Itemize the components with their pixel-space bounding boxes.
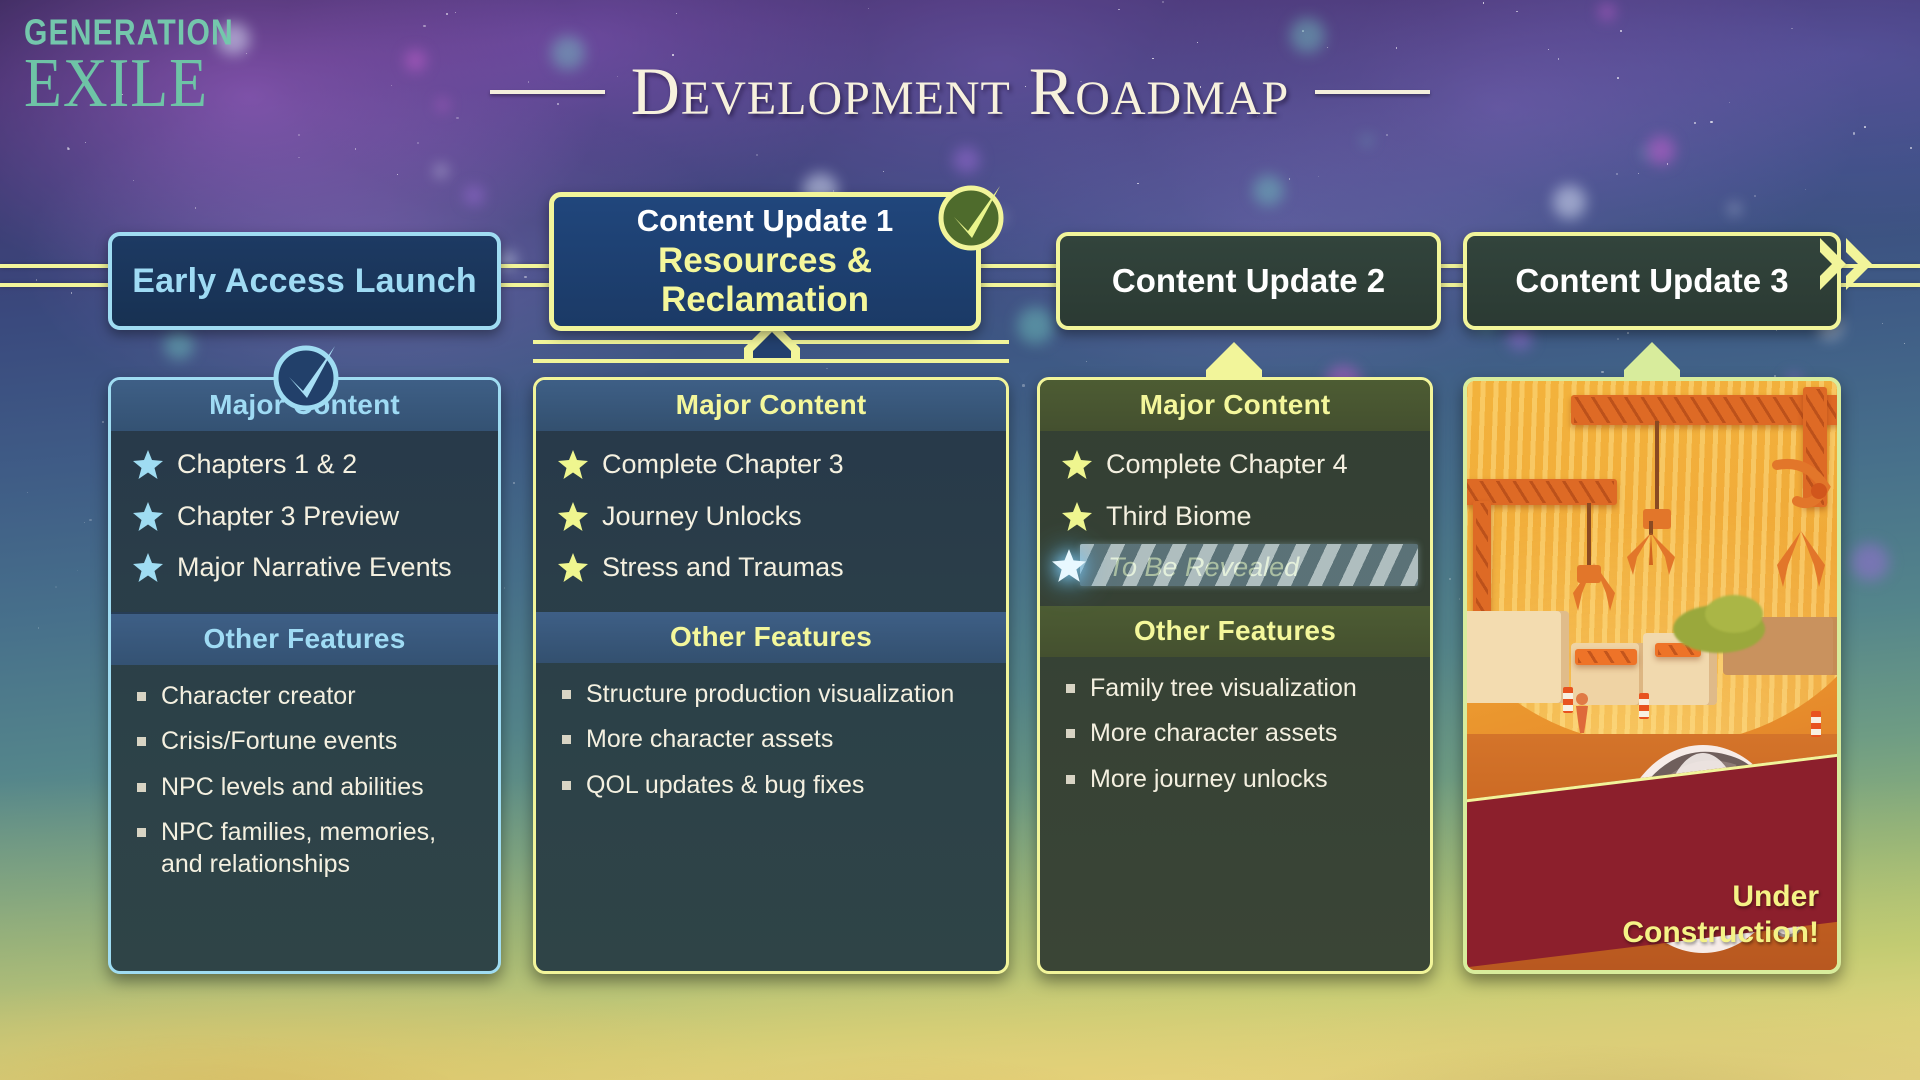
list-item: Crisis/Fortune events <box>111 726 498 758</box>
star-icon <box>558 502 588 540</box>
star-glow-icon <box>1052 549 1086 591</box>
square-bullet-icon <box>562 781 571 790</box>
list-item: Chapter 3 Preview <box>111 499 498 540</box>
milestone-title: Content Update 1 <box>637 204 894 239</box>
title-rule-right <box>1315 90 1430 94</box>
list-item-label: NPC families, memories, and relationship… <box>161 817 480 880</box>
list-item-label: Major Narrative Events <box>177 550 452 585</box>
list-item-label: Crisis/Fortune events <box>161 726 397 758</box>
connector-arrow-card-3 <box>1204 340 1264 387</box>
list-item-label: QOL updates & bug fixes <box>586 770 864 802</box>
major-content-list: Complete Chapter 3 Journey Unlocks Stres… <box>536 431 1006 612</box>
list-item-label: Journey Unlocks <box>602 499 802 534</box>
square-bullet-icon <box>137 783 146 792</box>
section-heading-major-content: Major Content <box>536 380 1006 431</box>
list-item-label: More character assets <box>1090 718 1337 750</box>
star-icon <box>558 553 588 591</box>
list-item-label: Stress and Traumas <box>602 550 844 585</box>
list-item: Major Narrative Events <box>111 550 498 591</box>
double-chevron-right-icon <box>1816 232 1894 296</box>
square-bullet-icon <box>1066 684 1075 693</box>
connector-arrow-card-4 <box>1622 340 1682 387</box>
list-item: More character assets <box>1040 718 1430 750</box>
list-item-label: Character creator <box>161 681 356 713</box>
list-item-label: Structure production visualization <box>586 679 954 711</box>
card-content-update-3[interactable]: Under Construction! <box>1463 377 1841 974</box>
milestone-content-update-3[interactable]: Content Update 3 <box>1463 232 1841 330</box>
list-item-label: Chapters 1 & 2 <box>177 447 357 482</box>
list-item: NPC levels and abilities <box>111 772 498 804</box>
list-item-label: NPC levels and abilities <box>161 772 424 804</box>
list-item-label: More character assets <box>586 724 833 756</box>
other-features-list: Character creator Crisis/Fortune events … <box>111 665 498 905</box>
milestone-content-update-2[interactable]: Content Update 2 <box>1056 232 1441 330</box>
milestone-subtitle: Resources & Reclamation <box>554 241 976 319</box>
list-item: Journey Unlocks <box>536 499 1006 540</box>
check-circle-icon-content-update-1 <box>937 180 1009 252</box>
list-item: More journey unlocks <box>1040 764 1430 796</box>
list-item: QOL updates & bug fixes <box>536 770 1006 802</box>
check-circle-icon-early-access <box>272 340 344 412</box>
milestone-content-update-1[interactable]: Content Update 1 Resources & Reclamation <box>549 192 981 331</box>
list-item: Chapters 1 & 2 <box>111 447 498 488</box>
list-item-label: Third Biome <box>1106 499 1252 534</box>
square-bullet-icon <box>562 735 571 744</box>
other-features-list: Structure production visualization More … <box>536 663 1006 826</box>
card-content-update-1[interactable]: Major Content Complete Chapter 3 Journey… <box>533 377 1009 974</box>
page-title: Development Roadmap <box>631 52 1289 131</box>
list-item-label: Chapter 3 Preview <box>177 499 399 534</box>
milestone-title: Content Update 2 <box>1112 263 1385 300</box>
major-content-list: Complete Chapter 4 Third Biome To Be Rev… <box>1040 431 1430 606</box>
banner-line-2: Construction! <box>1622 915 1819 950</box>
square-bullet-icon <box>137 737 146 746</box>
list-item-label: Family tree visualization <box>1090 673 1357 705</box>
square-bullet-icon <box>1066 729 1075 738</box>
list-item: Complete Chapter 4 <box>1040 447 1430 488</box>
milestone-early-access-launch[interactable]: Early Access Launch <box>108 232 501 330</box>
page-title-row: Development Roadmap <box>0 52 1920 131</box>
under-construction-label: Under Construction! <box>1622 879 1819 950</box>
list-item-label: More journey unlocks <box>1090 764 1328 796</box>
list-item-label: Complete Chapter 3 <box>602 447 844 482</box>
list-item: Complete Chapter 3 <box>536 447 1006 488</box>
star-icon <box>133 450 163 488</box>
milestone-title: Content Update 3 <box>1515 263 1788 300</box>
major-content-list: Chapters 1 & 2 Chapter 3 Preview Major N… <box>111 431 498 612</box>
list-item: Character creator <box>111 681 498 713</box>
milestone-title: Early Access Launch <box>132 262 477 300</box>
square-bullet-icon <box>137 692 146 701</box>
list-item: Third Biome <box>1040 499 1430 540</box>
star-icon <box>1062 450 1092 488</box>
banner-line-1: Under <box>1622 879 1819 914</box>
square-bullet-icon <box>562 690 571 699</box>
list-item: Structure production visualization <box>536 679 1006 711</box>
spoiler-censor-bar <box>1080 544 1418 586</box>
title-rule-left <box>490 90 605 94</box>
card-content-update-2[interactable]: Major Content Complete Chapter 4 Third B… <box>1037 377 1433 974</box>
section-heading-other-features: Other Features <box>536 612 1006 663</box>
star-icon <box>133 502 163 540</box>
list-item: More character assets <box>536 724 1006 756</box>
list-item-label: Complete Chapter 4 <box>1106 447 1348 482</box>
list-item-hidden: To Be Revealed <box>1040 550 1430 585</box>
star-icon <box>558 450 588 488</box>
card-early-access-launch[interactable]: Major Content Chapters 1 & 2 Chapter 3 P… <box>108 377 501 974</box>
star-icon <box>133 553 163 591</box>
star-icon <box>1062 502 1092 540</box>
other-features-list: Family tree visualization More character… <box>1040 657 1430 820</box>
section-heading-major-content: Major Content <box>1040 380 1430 431</box>
list-item: NPC families, memories, and relationship… <box>111 817 498 880</box>
list-item: Family tree visualization <box>1040 673 1430 705</box>
section-heading-other-features: Other Features <box>111 612 498 665</box>
section-heading-other-features: Other Features <box>1040 606 1430 657</box>
list-item: Stress and Traumas <box>536 550 1006 591</box>
square-bullet-icon <box>137 828 146 837</box>
square-bullet-icon <box>1066 775 1075 784</box>
